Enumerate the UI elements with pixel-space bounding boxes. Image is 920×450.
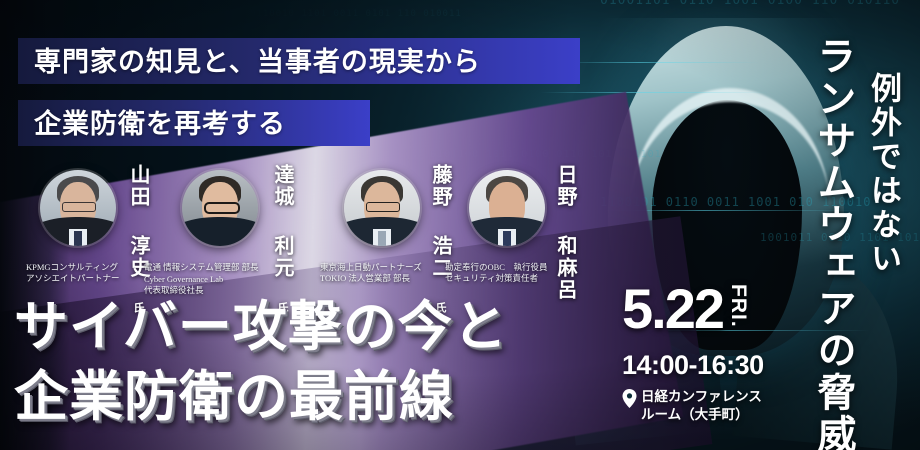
catchcopy-main: ランサムウェアの脅威 — [805, 36, 861, 450]
event-date-row: 5.22 FRI. — [622, 282, 802, 344]
speaker-title-1-line-1: KPMGコンサルティング — [26, 262, 120, 273]
event-time: 14:00-16:30 — [622, 350, 802, 381]
speaker-photo-2 — [182, 170, 258, 246]
speaker-card-4: 日野 和麻呂 勘定奉行のOBC 執行役員 セキュリティ対策責任者 — [455, 160, 605, 290]
speaker-photo-4 — [469, 170, 545, 246]
speaker-photo-3 — [344, 170, 420, 246]
event-day-of-week: FRI. — [726, 284, 750, 328]
speaker-title-4: 勘定奉行のOBC 執行役員 セキュリティ対策責任者 — [445, 262, 547, 284]
event-details: 5.22 FRI. 14:00-16:30 日経カンファレンス ルーム（大手町） — [622, 282, 802, 424]
speaker-title-1: KPMGコンサルティング アソシエイトパートナー — [26, 262, 120, 284]
speaker-photo-1 — [40, 170, 116, 246]
speaker-title-4-line-1: 勘定奉行のOBC 執行役員 — [445, 262, 547, 273]
event-venue-text: 日経カンファレンス ルーム（大手町） — [641, 388, 762, 424]
kicker-line-1: 専門家の知見と、当事者の現実から — [18, 38, 580, 84]
speaker-given-name-4: 和麻呂 — [554, 235, 576, 301]
event-venue-line-2: ルーム（大手町） — [641, 406, 762, 424]
event-date: 5.22 — [622, 282, 723, 337]
speaker-given-name-2: 利元 — [271, 235, 293, 279]
catchcopy-sub: 例外ではない — [861, 72, 906, 276]
main-title-line-2: 企業防衛の最前線 — [14, 352, 454, 431]
speaker-title-3-line-1: 東京海上日動パートナーズ — [320, 262, 422, 273]
speaker-family-name-3: 藤野 — [429, 164, 451, 208]
location-pin-icon — [622, 389, 637, 408]
speaker-family-name-1: 山田 — [127, 164, 149, 208]
speaker-title-3: 東京海上日動パートナーズ TOKIO 法人営業部 部長 — [320, 262, 422, 284]
kicker-line-2: 企業防衛を再考する — [18, 100, 370, 146]
main-title-line-1: サイバー攻撃の今と — [14, 282, 508, 361]
speaker-family-name-2: 達城 — [271, 164, 293, 208]
event-venue-line-1: 日経カンファレンス — [641, 388, 762, 406]
vertical-catchcopy: ランサムウェアの脅威 例外ではない — [805, 14, 912, 434]
speaker-card-2: 達城 利元 氏 電通 情報システム管理部 部長 Cyber Governance… — [168, 160, 323, 290]
speaker-name-4: 日野 和麻呂 — [551, 164, 580, 305]
speaker-title-2-line-1: 電通 情報システム管理部 部長 — [144, 262, 259, 273]
speaker-family-name-4: 日野 — [554, 164, 576, 208]
event-banner: 01001101 0110 1001 0100 110 010110 11001… — [0, 0, 920, 450]
event-venue: 日経カンファレンス ルーム（大手町） — [622, 388, 802, 424]
